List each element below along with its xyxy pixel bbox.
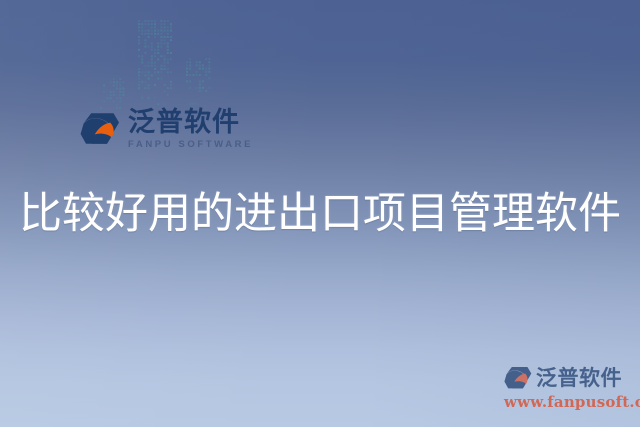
watermark: 泛普软件 www.fanpusoft.com [504, 366, 636, 410]
fanpu-logo: 泛普软件 FANPU SOFTWARE [80, 109, 253, 150]
watermark-brand-row: 泛普软件 [504, 366, 636, 390]
logo-name-cn: 泛普软件 [128, 109, 253, 136]
page-title: 比较好用的进出口项目管理软件 [0, 191, 640, 237]
dot-matrix-buildings-icon [100, 20, 212, 112]
fanpu-hexagon-mark-icon [80, 112, 120, 146]
logo-name-en: FANPU SOFTWARE [128, 140, 253, 150]
banner-image: 泛普软件 FANPU SOFTWARE 比较好用的进出口项目管理软件 泛普软件 … [0, 0, 640, 427]
fanpu-hexagon-mark-icon [504, 366, 532, 390]
watermark-url: www.fanpusoft.com [504, 395, 636, 410]
watermark-brand-name: 泛普软件 [536, 368, 622, 389]
